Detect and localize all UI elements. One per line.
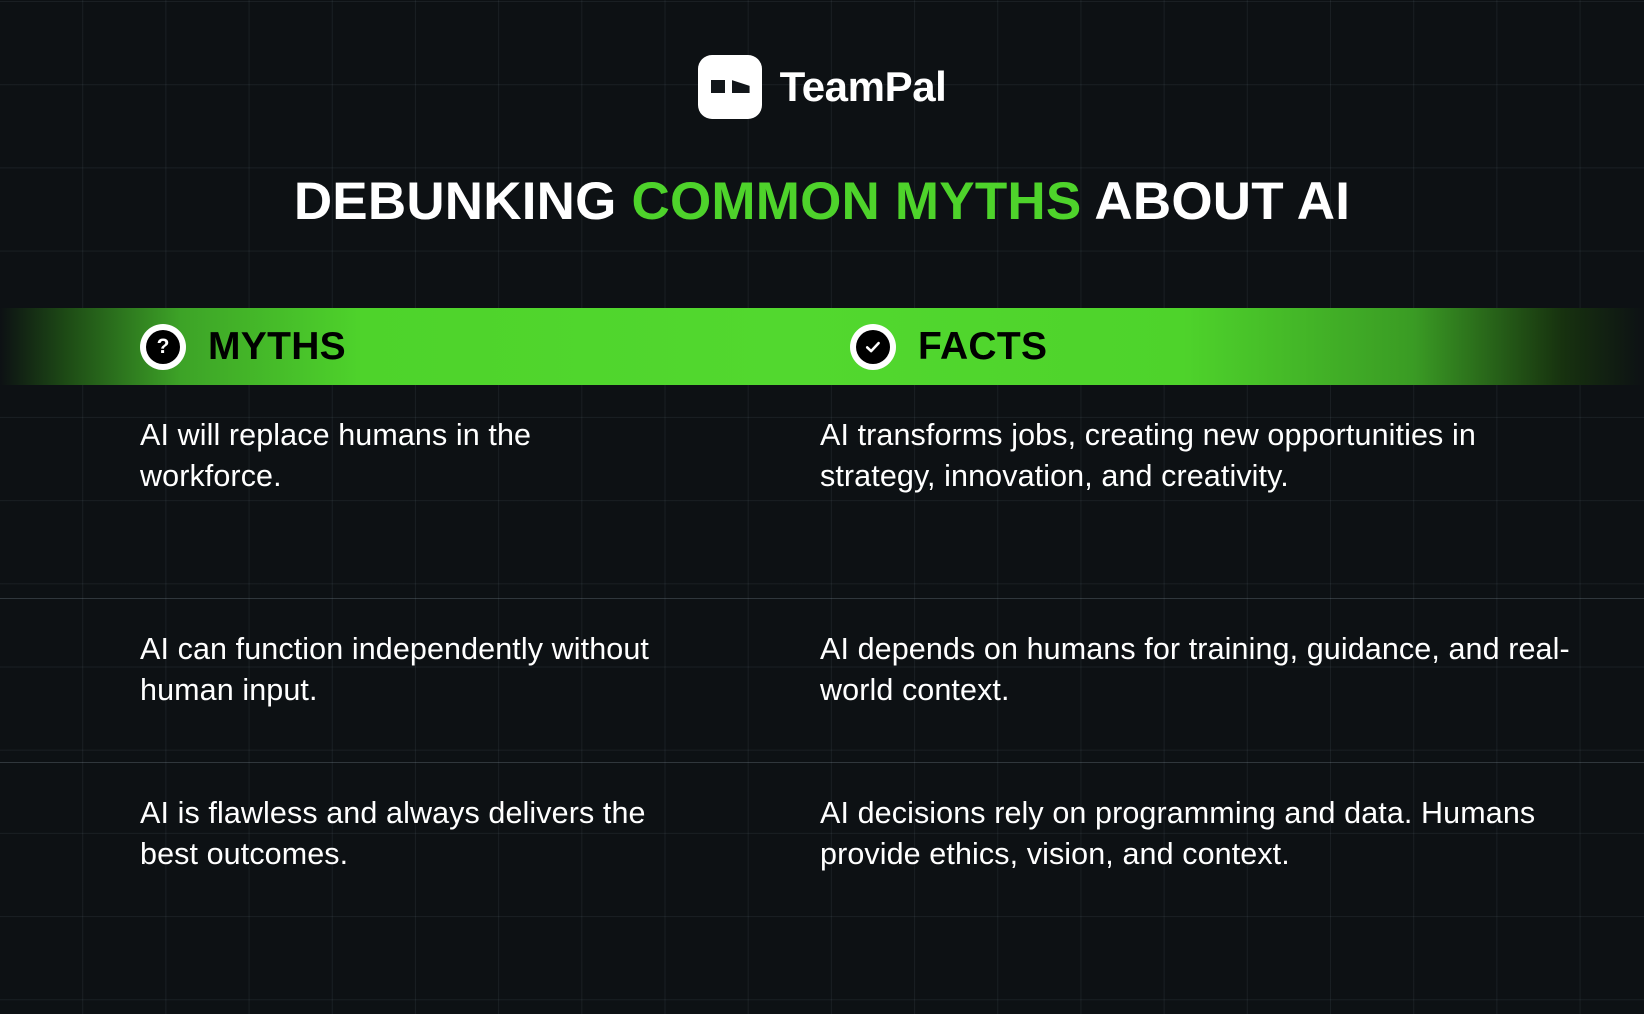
table-row: AI is flawless and always delivers the b… [0, 762, 1644, 937]
table-row: AI can function independently without hu… [0, 598, 1644, 762]
myths-facts-table: AI will replace humans in the workforce.… [0, 385, 1644, 937]
fact-cell: AI transforms jobs, creating new opportu… [710, 385, 1644, 598]
column-header-facts-label: FACTS [918, 327, 1047, 366]
logo-eye-left-shape [711, 80, 725, 93]
table-row: AI will replace humans in the workforce.… [0, 385, 1644, 598]
infographic-page: TeamPal DEBUNKING COMMON MYTHS ABOUT AI … [0, 0, 1644, 1014]
column-header-band: ? MYTHS FACTS [0, 308, 1644, 385]
fact-cell: AI depends on humans for training, guida… [710, 599, 1644, 762]
column-header-myths-label: MYTHS [208, 327, 346, 366]
page-title-part-2: ABOUT AI [1081, 172, 1350, 231]
check-mark-glyph [856, 330, 890, 364]
myth-cell: AI is flawless and always delivers the b… [0, 763, 710, 937]
page-title-part-1: DEBUNKING [294, 172, 632, 231]
page-title: DEBUNKING COMMON MYTHS ABOUT AI [0, 172, 1644, 231]
myth-cell: AI can function independently without hu… [0, 599, 710, 762]
logo-eye-right-shape [732, 80, 750, 93]
teampal-logo-icon [698, 55, 762, 119]
column-header-facts: FACTS [850, 308, 1047, 385]
check-mark-icon [850, 324, 896, 370]
brand-header: TeamPal [0, 55, 1644, 119]
fact-cell: AI decisions rely on programming and dat… [710, 763, 1644, 937]
question-mark-icon: ? [140, 324, 186, 370]
page-title-accent: COMMON MYTHS [632, 172, 1082, 231]
brand-name: TeamPal [780, 66, 947, 108]
question-mark-glyph: ? [146, 330, 180, 364]
column-header-myths: ? MYTHS [140, 308, 346, 385]
myth-cell: AI will replace humans in the workforce. [0, 385, 710, 598]
